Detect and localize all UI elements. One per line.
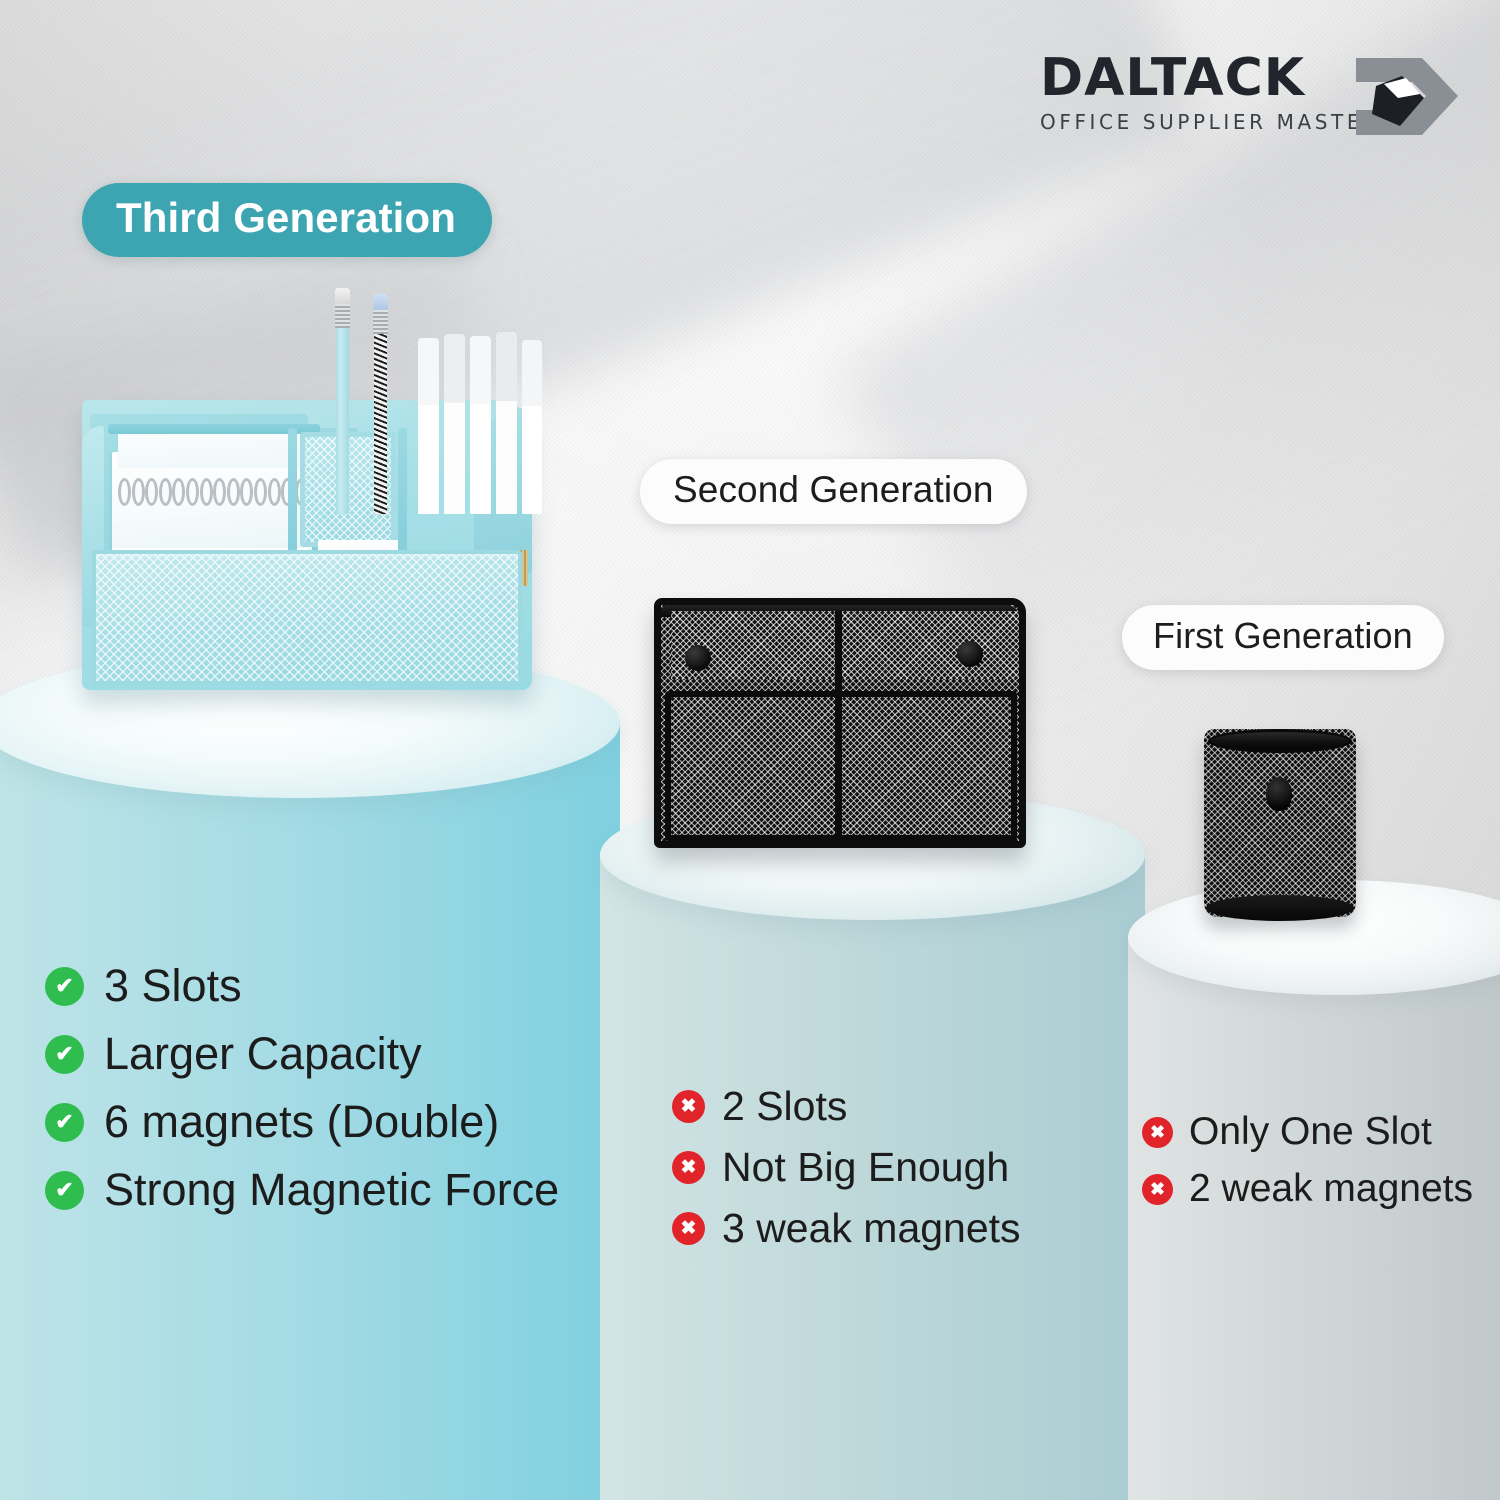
- check-icon: ✔: [45, 1171, 84, 1210]
- black-pen-cup-body: [1204, 729, 1356, 917]
- cross-icon: ✖: [1142, 1174, 1173, 1205]
- badge-second-generation: Second Generation: [640, 459, 1027, 524]
- pen-3: [470, 336, 491, 514]
- pen-cup-magnet: [1266, 777, 1292, 811]
- organizer-front-mesh-panel: [92, 550, 522, 685]
- cross-icon: ✖: [672, 1090, 705, 1123]
- feature-list-first-generation: ✖ Only One Slot ✖ 2 weak magnets: [1142, 1110, 1473, 1224]
- feature-label: 2 Slots: [722, 1083, 847, 1130]
- pen-5: [522, 340, 542, 514]
- pen-4: [496, 332, 517, 514]
- feature-label: Larger Capacity: [104, 1028, 422, 1080]
- feature-row: ✖ Only One Slot: [1142, 1110, 1473, 1154]
- feature-label: 6 magnets (Double): [104, 1096, 499, 1148]
- product-image-second-generation: [648, 588, 1038, 863]
- feature-row: ✔ 3 Slots: [45, 960, 559, 1012]
- product-image-first-generation: [1196, 715, 1366, 930]
- feature-label: 2 weak magnets: [1189, 1167, 1473, 1211]
- pen-cup-rim: [1208, 729, 1352, 753]
- spiral-ring: [186, 478, 199, 506]
- spiral-ring: [172, 478, 185, 506]
- spiral-ring: [145, 478, 158, 506]
- spiral-ring: [227, 478, 240, 506]
- organizer-divider-left: [288, 428, 297, 558]
- pen-1: [418, 338, 439, 514]
- pencil-patterned-ferrule: [373, 310, 388, 334]
- cross-icon: ✖: [1142, 1117, 1173, 1148]
- product-image-third-generation: CBDSYIFGSNV: [40, 300, 570, 750]
- pencil-teal-eraser: [335, 288, 350, 304]
- pencil-patterned: [374, 334, 387, 514]
- spiral-ring: [132, 478, 145, 506]
- spiral-ring: [118, 478, 131, 506]
- feature-label: Strong Magnetic Force: [104, 1164, 559, 1216]
- pencil-teal: [336, 328, 349, 514]
- pen-2: [444, 334, 465, 514]
- brand-logo-text: DALTACK OFFICE SUPPLIER MASTER: [1040, 52, 1381, 132]
- feature-label: Not Big Enough: [722, 1144, 1009, 1191]
- brand-arrow-icon: [1350, 54, 1460, 140]
- magnet-left: [685, 645, 711, 671]
- organizer-divider-right: [398, 428, 407, 558]
- spiral-ring: [268, 478, 281, 506]
- pencil-teal-ferrule: [335, 304, 350, 328]
- feature-list-second-generation: ✖ 2 Slots ✖ Not Big Enough ✖ 3 weak magn…: [672, 1083, 1021, 1266]
- pencil-patterned-eraser: [373, 294, 388, 310]
- feature-row: ✖ 2 weak magnets: [1142, 1167, 1473, 1211]
- spiral-ring: [254, 478, 267, 506]
- check-icon: ✔: [45, 1103, 84, 1142]
- notepad-spiral-binding: [118, 476, 310, 522]
- feature-list-third-generation: ✔ 3 Slots ✔ Larger Capacity ✔ 6 magnets …: [45, 960, 559, 1232]
- feature-row: ✖ Not Big Enough: [672, 1144, 1021, 1191]
- brand-name: DALTACK: [1040, 52, 1381, 104]
- feature-label: 3 weak magnets: [722, 1205, 1021, 1252]
- magnet-right: [957, 641, 983, 667]
- feature-row: ✖ 2 Slots: [672, 1083, 1021, 1130]
- spiral-ring: [213, 478, 226, 506]
- product-comparison-infographic: CBDSYIFGSNV: [0, 0, 1500, 1500]
- feature-row: ✔ Strong Magnetic Force: [45, 1164, 559, 1216]
- check-icon: ✔: [45, 1035, 84, 1074]
- cross-icon: ✖: [672, 1212, 705, 1245]
- feature-row: ✔ 6 magnets (Double): [45, 1096, 559, 1148]
- check-icon: ✔: [45, 967, 84, 1006]
- black-organizer-compartment-divider: [835, 611, 842, 839]
- feature-row: ✖ 3 weak magnets: [672, 1205, 1021, 1252]
- spiral-ring: [200, 478, 213, 506]
- badge-third-generation: Third Generation: [82, 183, 492, 257]
- black-organizer-body: [654, 598, 1026, 848]
- feature-row: ✔ Larger Capacity: [45, 1028, 559, 1080]
- spiral-ring: [159, 478, 172, 506]
- pen-cup-base: [1206, 895, 1354, 921]
- cross-icon: ✖: [672, 1151, 705, 1184]
- spiral-ring: [240, 478, 253, 506]
- organizer-body: CBDSYIFGSNV: [82, 400, 532, 690]
- badge-first-generation: First Generation: [1122, 605, 1444, 670]
- feature-label: 3 Slots: [104, 960, 242, 1012]
- brand-tagline: OFFICE SUPPLIER MASTER: [1040, 112, 1381, 132]
- feature-label: Only One Slot: [1189, 1110, 1432, 1154]
